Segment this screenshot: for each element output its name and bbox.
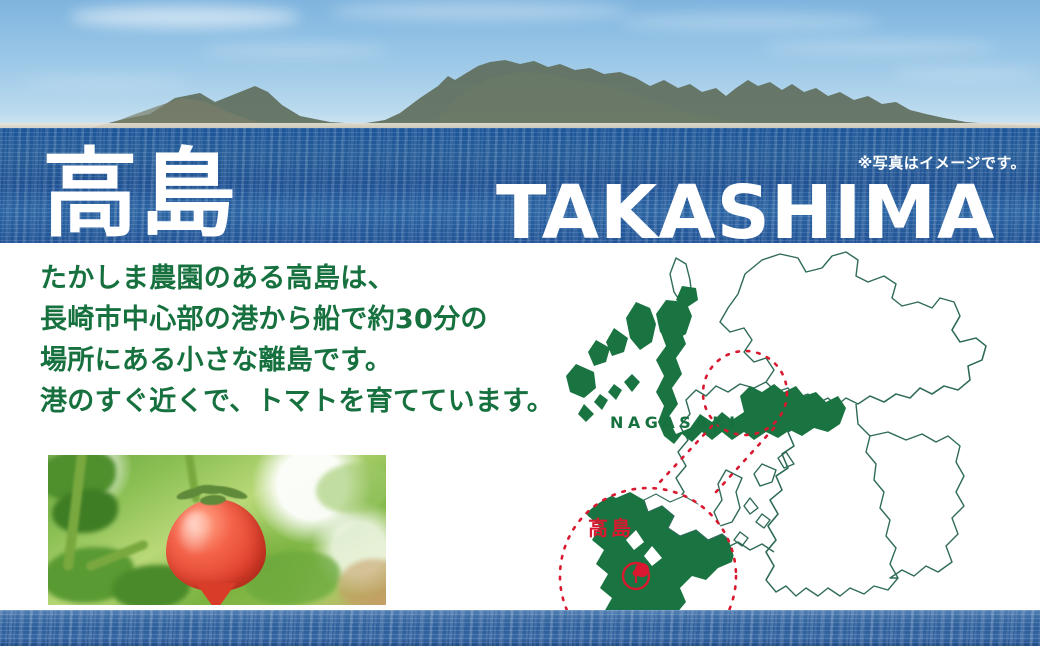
cloud-shape [760, 40, 1000, 54]
inset-landmass [560, 488, 736, 610]
bottom-sea-band [0, 610, 1040, 646]
tomato-photo [48, 455, 386, 605]
takashima-promo-card: 高島 TAKASHIMA ※写真はイメージです。 たかしま農園のある高島は、 長… [0, 0, 1040, 646]
takashima-pin-dot [633, 570, 640, 577]
island-silhouette [0, 58, 1040, 128]
cloud-shape [620, 14, 880, 30]
leaf-shape [316, 463, 386, 513]
page-title-jp: 高島 [42, 146, 238, 242]
takashima-inset [560, 488, 736, 610]
cloud-shape [200, 44, 390, 57]
calyx-leaf [200, 494, 227, 506]
description-line: 場所にある小さな離島です。 [40, 340, 554, 381]
description-line: たかしま農園のある高島は、 [40, 258, 554, 299]
zoom-connector-line [716, 428, 774, 492]
cloud-shape [330, 2, 630, 20]
description-text: たかしま農園のある高島は、 長崎市中心部の港から船で約30分の 場所にある小さな… [40, 258, 554, 422]
leaf-shape [52, 489, 118, 533]
page-title-latin: TAKASHIMA [496, 178, 995, 248]
description-line: 港のすぐ近くで、トマトを育てています。 [40, 381, 554, 422]
description-line: 長崎市中心部の港から船で約30分の [40, 299, 554, 340]
map-label-takashima: 高島 [588, 512, 634, 541]
tomato-highlight [180, 511, 214, 557]
map-label-nagasaki: NAGASAKI [610, 413, 740, 432]
heart-shaped-tomato [166, 499, 266, 591]
photo-disclaimer-note: ※写真はイメージです。 [858, 152, 1026, 173]
cloud-shape [70, 6, 300, 28]
leaf-shape [338, 559, 386, 605]
tomato-calyx [176, 485, 254, 511]
